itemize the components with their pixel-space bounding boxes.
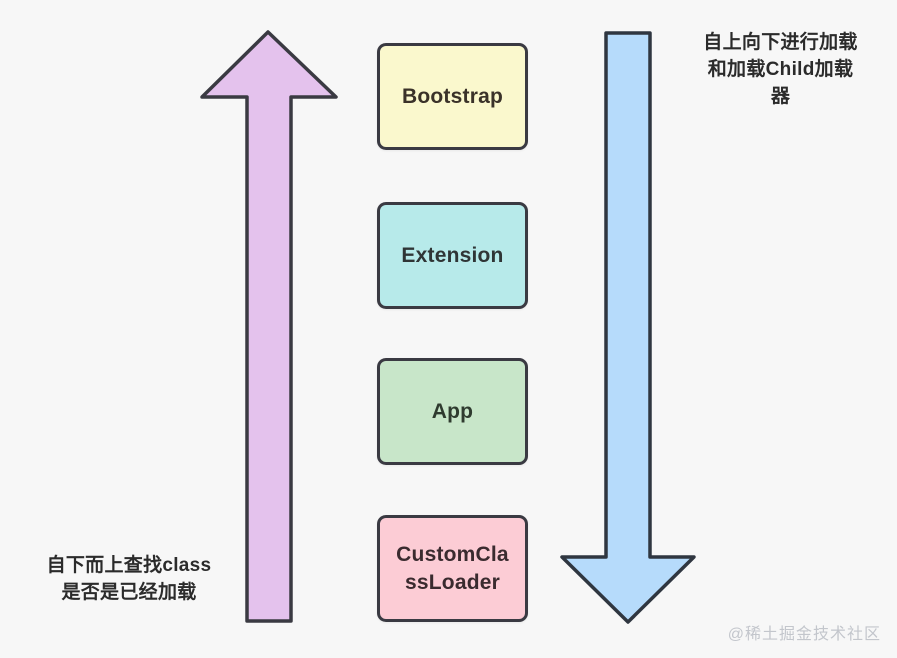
loader-box-bootstrap-label: Bootstrap: [402, 83, 503, 111]
loader-box-extension-label: Extension: [401, 242, 503, 270]
loader-box-app-label: App: [432, 398, 473, 426]
loader-box-extension[interactable]: Extension: [377, 202, 528, 309]
loader-box-customclassloader-label: CustomClassLoader: [392, 541, 513, 596]
watermark: @稀土掘金技术社区: [728, 620, 881, 644]
annotation-bottom-left: 自下而上查找class 是否是已经加载: [24, 553, 234, 607]
loader-box-bootstrap[interactable]: Bootstrap: [377, 43, 528, 150]
diagram-canvas: Bootstrap Extension App CustomClassLoade…: [0, 0, 897, 658]
loader-box-customclassloader[interactable]: CustomClassLoader: [377, 515, 528, 622]
loader-box-app[interactable]: App: [377, 358, 528, 465]
down-arrow-shape: [562, 33, 694, 622]
up-arrow-shape: [202, 32, 336, 621]
annotation-top-right: 自上向下进行加载 和加载Child加载 器: [683, 30, 878, 111]
